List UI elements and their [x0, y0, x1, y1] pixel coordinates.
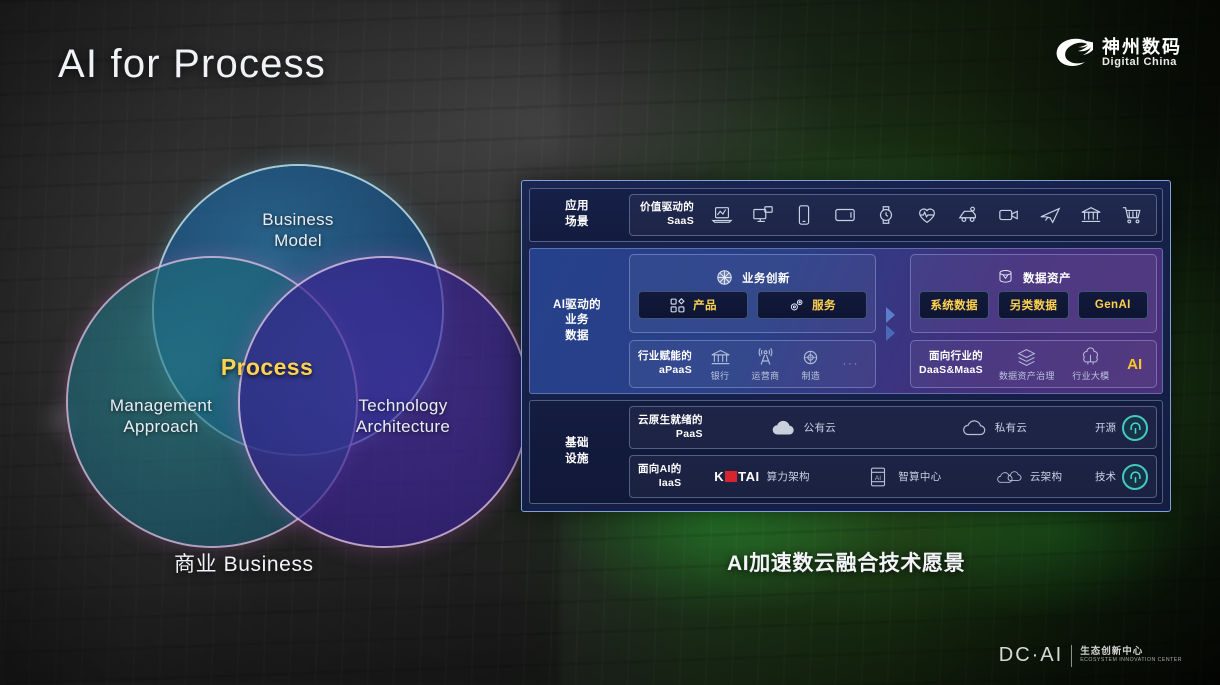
chip-system-data[interactable]: 系统数据: [919, 291, 989, 319]
badge-technology-label: 技术: [1095, 469, 1116, 484]
venn-diagram: Business Model Management Approach Techn…: [62, 166, 462, 510]
tablet-icon: [834, 204, 856, 226]
item-intelligent-computing-center: AI 智算中心: [865, 466, 941, 488]
footer-logo: DC·AI 生态创新中心 ECOSYSTEM INNOVATION CENTER: [999, 644, 1182, 667]
item-cloud-architecture: 云架构: [997, 466, 1062, 488]
tech-vision-panel: 应用 场景 价值驱动的 SaaS: [521, 180, 1171, 512]
tag-industry-apaas: 行业赋能的 aPaaS: [638, 350, 692, 377]
chip-system-data-label: 系统数据: [930, 297, 978, 313]
svg-text:AI: AI: [875, 474, 881, 481]
daas-maas-card: 面向行业的 DaaS&MaaS 数据资产治理 行业大模 AI: [910, 340, 1157, 388]
tag-industry-daas-maas: 面向行业的 DaaS&MaaS: [919, 350, 983, 377]
paas-item-list: 公有云 私有云: [713, 417, 1085, 439]
card-value-driven-saas: 价值驱动的 SaaS: [629, 194, 1157, 236]
row-ai-driven-business-data: AI驱动的 业务 数据 业务创新 产品: [529, 248, 1163, 394]
row-label-application-scenarios: 应用 场景: [530, 189, 624, 241]
venn-label-business-model: Business Model: [208, 210, 388, 251]
opensource-headphone-icon: [1122, 464, 1148, 490]
bank-icon: [710, 347, 731, 368]
tag-value-driven-saas: 价值驱动的 SaaS: [640, 201, 694, 228]
brand-logo: 神州数码 Digital China: [1053, 36, 1182, 70]
data-assets-card: 数据资产 系统数据 另类数据 GenAI: [910, 254, 1157, 333]
cloud-filled-icon: [771, 417, 797, 439]
desktop-monitor-icon: [752, 204, 774, 226]
item-compute-architecture-label: 算力架构: [767, 469, 810, 484]
antenna-signal-icon: [755, 347, 776, 368]
tag-cloud-native-paas: 云原生就绪的 PaaS: [638, 414, 703, 441]
database-icon: [996, 268, 1015, 287]
caption-business: 商业 Business: [174, 548, 314, 578]
mini-industry-large-model-label: 行业大模: [1072, 369, 1109, 382]
mini-operator-label: 运营商: [752, 369, 780, 382]
bank-icon: [1080, 204, 1102, 226]
multi-cloud-icon: [997, 466, 1023, 488]
section-business-innovation: 业务创新 产品 服务 行业赋能的 aPaaS: [629, 254, 876, 388]
chip-genai[interactable]: GenAI: [1078, 291, 1148, 319]
smartwatch-icon: [875, 204, 897, 226]
brand-name-en: Digital China: [1102, 57, 1182, 69]
laptop-chart-icon: [711, 204, 733, 226]
chip-service[interactable]: 服务: [757, 291, 867, 319]
row-label-infrastructure: 基础 设施: [530, 401, 624, 503]
mini-manufacturing: 制造: [800, 347, 821, 382]
row-application-scenarios: 应用 场景 价值驱动的 SaaS: [529, 188, 1163, 242]
apaas-ellipsis: ···: [842, 358, 859, 370]
mini-data-governance: 数据资产治理: [999, 347, 1055, 382]
mini-bank-label: 银行: [711, 369, 730, 382]
heart-pulse-icon: [916, 204, 938, 226]
brain-model-icon: [1080, 347, 1101, 368]
airplane-icon: [1039, 204, 1061, 226]
data-assets-chips: 系统数据 另类数据 GenAI: [919, 291, 1148, 319]
item-private-cloud-label: 私有云: [995, 420, 1027, 435]
data-assets-header: 数据资产: [996, 268, 1071, 287]
flow-arrow-icon: [884, 254, 902, 388]
mini-operator: 运营商: [752, 347, 780, 382]
row-label-ai-driven-business-data: AI驱动的 业务 数据: [530, 249, 624, 393]
caption-ai-vision: AI加速数云融合技术愿景: [727, 547, 965, 577]
chip-genai-label: GenAI: [1095, 299, 1131, 311]
video-camera-icon: [998, 204, 1020, 226]
grid-blocks-icon: [669, 297, 686, 314]
chip-alternative-data-label: 另类数据: [1010, 297, 1058, 313]
data-layers-icon: [1016, 347, 1037, 368]
car-icon: [957, 204, 979, 226]
item-compute-architecture: KTAI 算力架构: [714, 469, 810, 484]
venn-label-management-approach: Management Approach: [68, 396, 254, 437]
iaas-item-list: KTAI 算力架构 AI 智算中心 云架构: [692, 466, 1086, 488]
item-cloud-architecture-label: 云架构: [1030, 469, 1062, 484]
item-public-cloud: 公有云: [771, 417, 836, 439]
tag-ai-oriented-iaas: 面向AI的 IaaS: [638, 463, 682, 490]
chip-alternative-data[interactable]: 另类数据: [998, 291, 1068, 319]
footer-logo-main: DC·AI: [999, 644, 1063, 667]
badge-technology: 技术: [1095, 464, 1148, 490]
factory-gear-icon: [800, 347, 821, 368]
mini-industry-large-model: 行业大模: [1072, 347, 1109, 382]
smartphone-icon: [793, 204, 815, 226]
footer-logo-en: ECOSYSTEM INNOVATION CENTER: [1080, 658, 1182, 664]
apaas-card: 行业赋能的 aPaaS 银行 运营商 制造: [629, 340, 876, 388]
venn-label-technology-architecture: Technology Architecture: [308, 396, 498, 437]
brand-name-cn: 神州数码: [1102, 38, 1182, 57]
chip-product-label: 产品: [693, 297, 717, 313]
business-innovation-header: 业务创新: [715, 268, 790, 287]
business-innovation-chips: 产品 服务: [638, 291, 867, 319]
opensource-headphone-icon: [1122, 415, 1148, 441]
digital-china-swirl-icon: [1053, 36, 1093, 70]
badge-open-source-label: 开源: [1095, 420, 1116, 435]
chip-service-label: 服务: [812, 297, 836, 313]
mini-bank: 银行: [710, 347, 731, 382]
item-public-cloud-label: 公有云: [804, 420, 836, 435]
page-title: AI for Process: [58, 42, 326, 87]
cloud-outline-icon: [962, 417, 988, 439]
daas-maas-item-list: 数据资产治理 行业大模 AI: [993, 347, 1148, 382]
business-innovation-title: 业务创新: [742, 270, 790, 286]
kutai-logo: KTAI: [714, 469, 759, 484]
gears-icon: [788, 297, 805, 314]
section-data-assets: 数据资产 系统数据 另类数据 GenAI 面向行业的 DaaS&MaaS 数据资…: [910, 254, 1157, 388]
card-cloud-native-paas: 云原生就绪的 PaaS 公有云 私有云 开源: [629, 406, 1157, 449]
item-intelligent-computing-center-label: 智算中心: [898, 469, 941, 484]
industry-ai-badge: AI: [1127, 356, 1142, 373]
venn-label-process: Process: [182, 354, 352, 381]
mini-data-governance-label: 数据资产治理: [999, 369, 1055, 382]
sphere-network-icon: [715, 268, 734, 287]
apaas-industry-list: 银行 运营商 制造 ···: [702, 347, 867, 382]
data-assets-title: 数据资产: [1023, 270, 1071, 286]
card-ai-oriented-iaas: 面向AI的 IaaS KTAI 算力架构 AI 智算中心 云架构: [629, 455, 1157, 498]
item-private-cloud: 私有云: [962, 417, 1027, 439]
mini-manufacturing-label: 制造: [802, 369, 821, 382]
shopping-cart-icon: [1121, 204, 1143, 226]
row-infrastructure: 基础 设施 云原生就绪的 PaaS 公有云 私有云 开源: [529, 400, 1163, 504]
business-innovation-card: 业务创新 产品 服务: [629, 254, 876, 333]
ai-server-icon: AI: [865, 466, 891, 488]
scenario-icon-strip: [708, 204, 1146, 226]
badge-open-source: 开源: [1095, 415, 1148, 441]
chip-product[interactable]: 产品: [638, 291, 748, 319]
footer-divider: [1071, 645, 1072, 667]
